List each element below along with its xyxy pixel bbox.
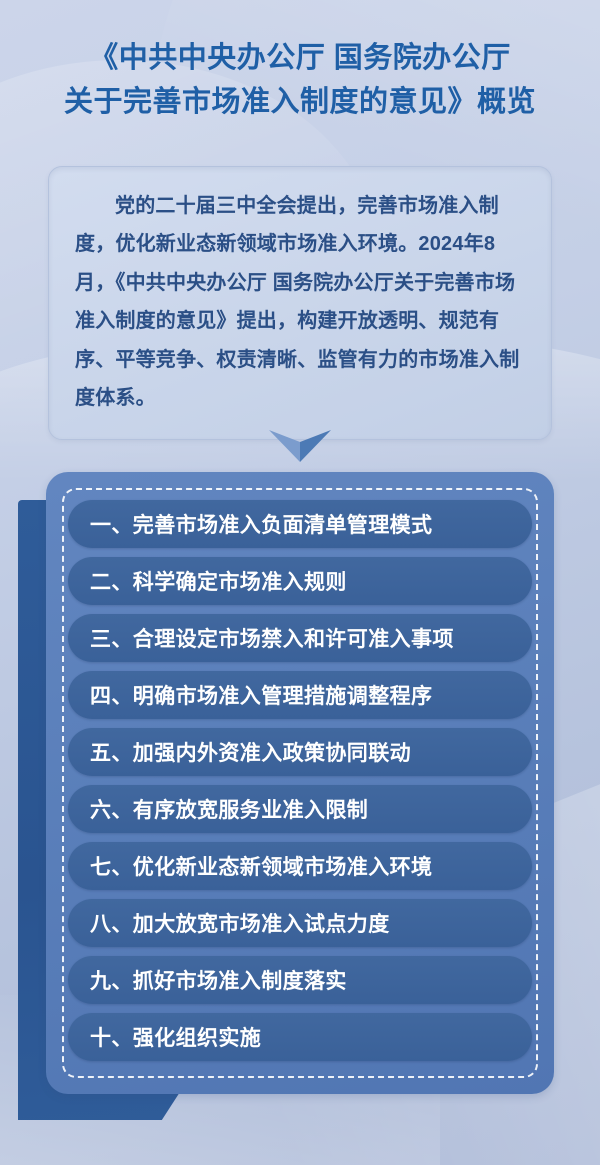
chevron-down-icon xyxy=(269,428,331,462)
page-title: 《中共中央办公厅 国务院办公厅 关于完善市场准入制度的意见》概览 xyxy=(0,36,600,124)
list-item-label: 三、合理设定市场禁入和许可准入事项 xyxy=(90,623,454,653)
list-item[interactable]: 三、合理设定市场禁入和许可准入事项 xyxy=(68,614,532,662)
list-item-label: 六、有序放宽服务业准入限制 xyxy=(90,794,368,824)
list-item-label: 八、加大放宽市场准入试点力度 xyxy=(90,908,390,938)
infographic-poster: 《中共中央办公厅 国务院办公厅 关于完善市场准入制度的意见》概览 党的二十届三中… xyxy=(0,0,600,1165)
list-item[interactable]: 四、明确市场准入管理措施调整程序 xyxy=(68,671,532,719)
list-item[interactable]: 一、完善市场准入负面清单管理模式 xyxy=(68,500,532,548)
list-item-label: 二、科学确定市场准入规则 xyxy=(90,566,347,596)
list-item[interactable]: 七、优化新业态新领域市场准入环境 xyxy=(68,842,532,890)
list-item[interactable]: 九、抓好市场准入制度落实 xyxy=(68,956,532,1004)
list-item[interactable]: 五、加强内外资准入政策协同联动 xyxy=(68,728,532,776)
list-item[interactable]: 二、科学确定市场准入规则 xyxy=(68,557,532,605)
measures-panel: 一、完善市场准入负面清单管理模式 二、科学确定市场准入规则 三、合理设定市场禁入… xyxy=(46,472,554,1094)
intro-card: 党的二十届三中全会提出，完善市场准入制度，优化新业态新领域市场准入环境。2024… xyxy=(48,166,552,440)
list-item-label: 四、明确市场准入管理措施调整程序 xyxy=(90,680,432,710)
list-item-label: 九、抓好市场准入制度落实 xyxy=(90,965,347,995)
list-item-label: 七、优化新业态新领域市场准入环境 xyxy=(90,851,432,881)
list-item-label: 一、完善市场准入负面清单管理模式 xyxy=(90,509,432,539)
list-item[interactable]: 十、强化组织实施 xyxy=(68,1013,532,1061)
measures-list: 一、完善市场准入负面清单管理模式 二、科学确定市场准入规则 三、合理设定市场禁入… xyxy=(68,500,532,1061)
list-item[interactable]: 六、有序放宽服务业准入限制 xyxy=(68,785,532,833)
list-item-label: 十、强化组织实施 xyxy=(90,1022,261,1052)
list-item-label: 五、加强内外资准入政策协同联动 xyxy=(90,737,411,767)
intro-paragraph: 党的二十届三中全会提出，完善市场准入制度，优化新业态新领域市场准入环境。2024… xyxy=(75,187,525,417)
list-item[interactable]: 八、加大放宽市场准入试点力度 xyxy=(68,899,532,947)
